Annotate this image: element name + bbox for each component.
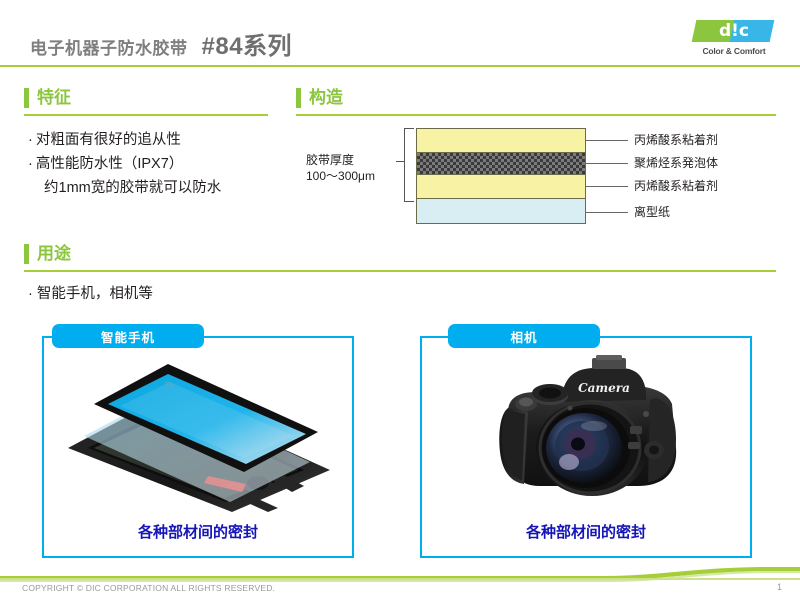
usage-bullet-text: · 智能手机，相机等 bbox=[28, 282, 153, 303]
layer-label: 丙烯酸系粘着剂 bbox=[634, 133, 718, 147]
features-accent-bar bbox=[24, 88, 29, 108]
feature-text: 对粗面有很好的追从性 bbox=[36, 128, 288, 152]
dslr-camera-illustration: Camera bbox=[470, 352, 702, 516]
application-tab-smartphone: 智能手机 bbox=[52, 324, 204, 348]
structure-diagram: 胶带厚度 100～300μm 丙烯酸系粘着剂 聚烯烃系発泡体 丙烯酸系粘着剂 离… bbox=[296, 126, 786, 232]
layer-adhesive-top bbox=[416, 128, 586, 152]
features-heading: 特征 bbox=[24, 88, 71, 108]
footer-divider bbox=[0, 578, 800, 580]
logo-letters: d!c bbox=[686, 18, 782, 44]
feature-bullet-icon: · bbox=[28, 128, 33, 152]
thickness-bracket bbox=[404, 128, 414, 202]
footer-swoosh-svg bbox=[0, 565, 800, 583]
camera-svg: Camera bbox=[470, 352, 702, 516]
layer-leader-labels: 丙烯酸系粘着剂 聚烯烃系発泡体 丙烯酸系粘着剂 离型纸 bbox=[586, 126, 786, 226]
logo-tagline: Color & Comfort bbox=[686, 46, 782, 56]
feature-bullet-icon: · bbox=[28, 152, 33, 176]
application-tab-camera: 相机 bbox=[448, 324, 600, 348]
footer-page-number: 1 bbox=[777, 582, 782, 592]
layer-label: 聚烯烃系発泡体 bbox=[634, 156, 718, 170]
usage-heading-label: 用途 bbox=[37, 244, 71, 264]
usage-heading: 用途 bbox=[24, 244, 71, 264]
page-title: 电子机器子防水胶带 #84系列 bbox=[30, 26, 292, 61]
thickness-value-text: 100～300μm bbox=[306, 168, 402, 184]
application-caption-camera: 各种部材间的密封 bbox=[420, 521, 752, 542]
feature-item: · 对粗面有很好的追从性 bbox=[28, 128, 288, 152]
usage-accent-bar bbox=[24, 244, 29, 264]
layer-foam-core bbox=[416, 152, 586, 174]
page-series-title: #84系列 bbox=[202, 26, 293, 61]
svg-text:Camera: Camera bbox=[578, 381, 630, 395]
logo-marks: d!c bbox=[686, 18, 782, 44]
leader-line bbox=[586, 163, 628, 164]
application-caption-smartphone: 各种部材间的密封 bbox=[42, 521, 354, 542]
header-divider bbox=[0, 65, 800, 67]
features-underline bbox=[24, 114, 268, 116]
leader-line bbox=[586, 140, 628, 141]
footer-copyright: COPYRIGHT © DIC CORPORATION ALL RIGHTS R… bbox=[22, 583, 275, 593]
layer-release-paper bbox=[416, 198, 586, 224]
structure-heading: 构造 bbox=[296, 88, 343, 108]
feature-text: 高性能防水性（IPX7） bbox=[36, 152, 288, 176]
features-heading-label: 特征 bbox=[37, 88, 71, 108]
leader-line bbox=[586, 212, 628, 213]
layer-adhesive-bottom bbox=[416, 174, 586, 198]
page-header: 电子机器子防水胶带 #84系列 bbox=[0, 0, 800, 66]
smartphone-svg: d!c bbox=[60, 356, 338, 514]
dic-logo: d!c Color & Comfort bbox=[686, 18, 782, 62]
layer-label: 离型纸 bbox=[634, 205, 670, 219]
leader-line bbox=[586, 186, 628, 187]
features-list: · 对粗面有很好的追从性 · 高性能防水性（IPX7） 约1mm宽的胶带就可以防… bbox=[28, 128, 288, 200]
thickness-label-text: 胶带厚度 bbox=[306, 152, 402, 168]
feature-subtext: 约1mm宽的胶带就可以防水 bbox=[44, 176, 288, 200]
smartphone-exploded-illustration: d!c bbox=[60, 356, 338, 514]
structure-underline bbox=[296, 114, 776, 116]
structure-accent-bar bbox=[296, 88, 301, 108]
layer-stack bbox=[416, 128, 586, 224]
structure-heading-label: 构造 bbox=[309, 88, 343, 108]
bracket-connector bbox=[396, 161, 404, 162]
page-subtitle: 电子机器子防水胶带 bbox=[30, 34, 188, 59]
thickness-annotation: 胶带厚度 100～300μm bbox=[306, 152, 402, 184]
feature-item: · 高性能防水性（IPX7） bbox=[28, 152, 288, 176]
footer-swoosh-graphic bbox=[0, 565, 800, 583]
layer-label: 丙烯酸系粘着剂 bbox=[634, 179, 718, 193]
usage-underline bbox=[24, 270, 776, 272]
